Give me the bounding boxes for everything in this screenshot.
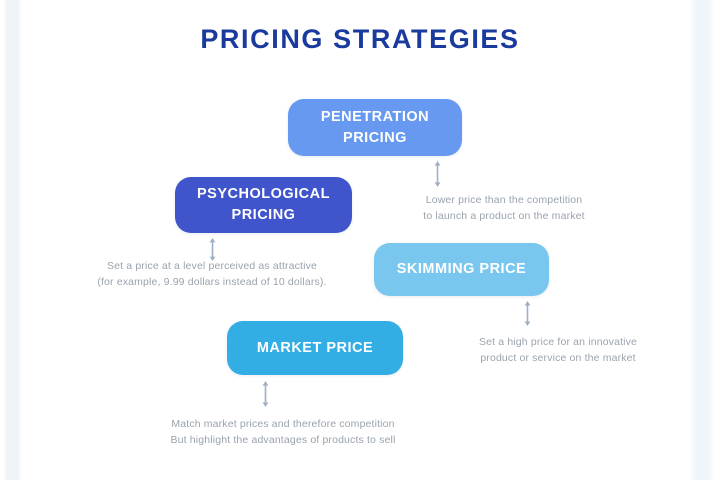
caption-line1: Set a price at a level perceived as attr… [82,258,342,274]
strategy-label-line2: PRICING [232,207,296,223]
page-edge-band-left [3,0,22,480]
pricing-strategies-infographic: PRICING STRATEGIES PENETRATION PRICING L… [0,0,720,480]
strategy-label-skimming: SKIMMING PRICE [387,259,536,280]
strategy-box-psychological[interactable]: PSYCHOLOGICAL PRICING [175,177,352,233]
connector-arrow-skimming [522,301,533,326]
strategy-label-penetration: PENETRATION PRICING [311,107,439,148]
strategy-box-skimming[interactable]: SKIMMING PRICE [374,243,549,296]
strategy-label-line1: PSYCHOLOGICAL [197,186,330,202]
caption-line1: Lower price than the competition [404,192,604,208]
strategy-box-penetration[interactable]: PENETRATION PRICING [288,99,462,156]
strategy-label-line1: PENETRATION [321,109,429,125]
strategy-label-psychological: PSYCHOLOGICAL PRICING [187,184,340,225]
connector-arrow-penetration [432,161,443,187]
strategy-label-market: MARKET PRICE [247,338,383,359]
caption-line2: But highlight the advantages of products… [143,432,423,448]
caption-line2: to launch a product on the market [404,208,604,224]
page-edge-band-right [689,0,715,480]
strategy-caption-skimming: Set a high price for an innovative produ… [443,334,673,367]
strategy-caption-psychological: Set a price at a level perceived as attr… [82,258,342,291]
caption-line2: (for example, 9.99 dollars instead of 10… [82,274,342,290]
strategy-caption-market: Match market prices and therefore compet… [143,416,423,449]
page-title: PRICING STRATEGIES [0,24,720,55]
caption-line1: Match market prices and therefore compet… [143,416,423,432]
strategy-label-line2: PRICING [343,130,407,146]
connector-arrow-market [260,381,271,407]
strategy-caption-penetration: Lower price than the competition to laun… [404,192,604,225]
strategy-box-market[interactable]: MARKET PRICE [227,321,403,375]
caption-line2: product or service on the market [443,350,673,366]
caption-line1: Set a high price for an innovative [443,334,673,350]
